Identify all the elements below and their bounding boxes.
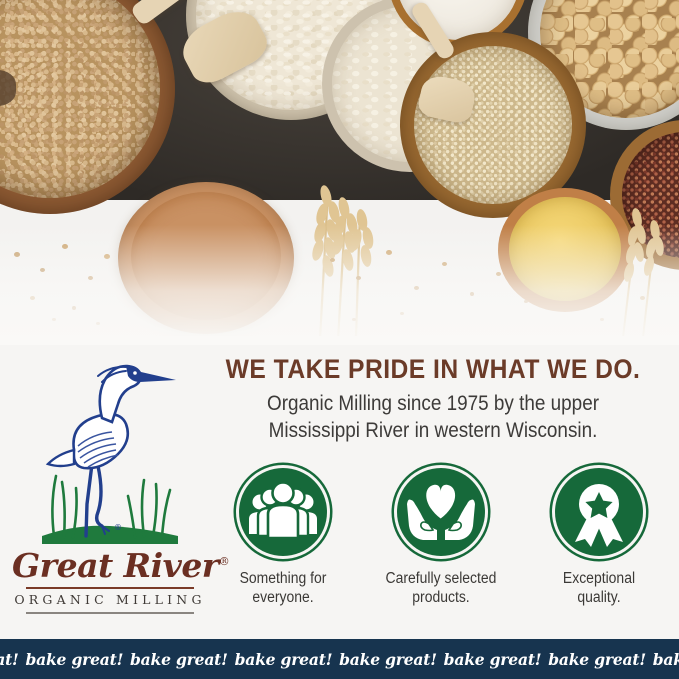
badge-label-3-line2: quality.	[533, 588, 664, 607]
award-ribbon-star-icon	[555, 468, 643, 556]
badge-label-1: Something for everyone.	[217, 569, 348, 607]
photo-bottom-fade	[0, 225, 679, 345]
subheadline-line-1: Organic Milling since 1975 by the upper	[220, 390, 647, 417]
badge-label-1-line2: everyone.	[217, 588, 348, 607]
brand-message-section: WE TAKE PRIDE IN WHAT WE DO. Organic Mil…	[0, 336, 679, 639]
logo-divider-bottom	[26, 612, 194, 614]
banner-phrase: bake great!	[0, 650, 19, 669]
banner-phrase: bake great!	[653, 650, 679, 669]
badge-label-3-line1: Exceptional	[533, 569, 664, 588]
logo-divider-top	[26, 587, 194, 589]
badge-label-1-line1: Something for	[217, 569, 348, 588]
logo-brand-name-text: Great River	[12, 546, 219, 585]
bake-great-banner: bake great!bake great!bake great!bake gr…	[0, 639, 679, 679]
subheadline-line-2: Mississippi River in western Wisconsin.	[220, 417, 647, 444]
logo-brand-name: Great River®	[12, 546, 208, 585]
badge-label-3: Exceptional quality.	[533, 569, 664, 607]
banner-repeating-text: bake great!bake great!bake great!bake gr…	[0, 650, 679, 669]
hero-food-photo	[0, 0, 679, 345]
heart-in-hands-icon	[397, 468, 485, 556]
promo-image-root: WE TAKE PRIDE IN WHAT WE DO. Organic Mil…	[0, 0, 679, 679]
badge-label-2-line2: products.	[375, 588, 506, 607]
badge-carefully-selected-products: Carefully selected products.	[368, 468, 514, 607]
blue-heron-icon: ®	[40, 354, 180, 544]
logo-tagline: ORGANIC MILLING	[12, 592, 208, 607]
banner-phrase: bake great!	[26, 650, 124, 669]
badge-circle-2	[397, 468, 485, 556]
banner-phrase: bake great!	[235, 650, 333, 669]
banner-phrase: bake great!	[340, 650, 438, 669]
value-badges: Something for everyone.	[210, 468, 672, 607]
badge-label-2-line1: Carefully selected	[375, 569, 506, 588]
brand-logo: ® Great River® ORGANIC MILLING	[12, 354, 208, 616]
badge-circle-1	[239, 468, 327, 556]
banner-phrase: bake great!	[549, 650, 647, 669]
banner-phrase: bake great!	[130, 650, 228, 669]
svg-text:®: ®	[114, 523, 122, 532]
group-of-people-icon	[239, 468, 327, 556]
badge-circle-3	[555, 468, 643, 556]
badge-label-2: Carefully selected products.	[375, 569, 506, 607]
quinoa-grains	[414, 46, 572, 204]
page-subheadline: Organic Milling since 1975 by the upper …	[220, 390, 647, 444]
badge-exceptional-quality: Exceptional quality.	[526, 468, 672, 607]
banner-phrase: bake great!	[444, 650, 542, 669]
badge-something-for-everyone: Something for everyone.	[210, 468, 356, 607]
page-headline: WE TAKE PRIDE IN WHAT WE DO.	[213, 354, 654, 385]
